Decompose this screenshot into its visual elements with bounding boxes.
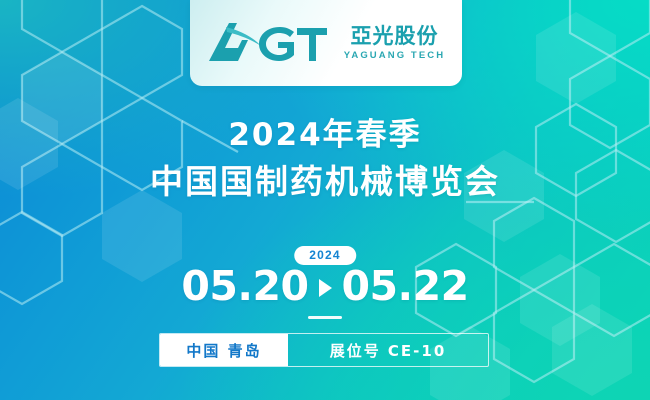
date-start: 05.20 — [181, 266, 308, 307]
logo-wordmark: 亞光股份 YAGUANG TECH — [344, 26, 445, 61]
company-logo-card: 亞光股份 YAGUANG TECH — [190, 0, 462, 86]
logo-company-name-cn: 亞光股份 — [350, 26, 438, 47]
booth-number-label: 展位号 CE-10 — [288, 334, 488, 366]
play-triangle-icon — [319, 279, 332, 297]
date-range: 05.20 05.22 — [0, 266, 650, 307]
date-divider-rule — [308, 316, 342, 319]
headline-block: 2024年春季 中国国制药机械博览会 — [0, 118, 650, 200]
info-bar: 中国 青岛 展位号 CE-10 — [159, 333, 489, 367]
exhibition-banner: 亞光股份 YAGUANG TECH 2024年春季 中国国制药机械博览会 202… — [0, 0, 650, 400]
location-label: 中国 青岛 — [160, 334, 288, 366]
logo-company-name-en: YAGUANG TECH — [344, 51, 445, 61]
headline-event-title: 中国国制药机械博览会 — [0, 164, 650, 200]
agt-logo-icon — [207, 21, 335, 65]
date-end: 05.22 — [342, 266, 469, 307]
headline-season: 2024年春季 — [0, 118, 650, 152]
